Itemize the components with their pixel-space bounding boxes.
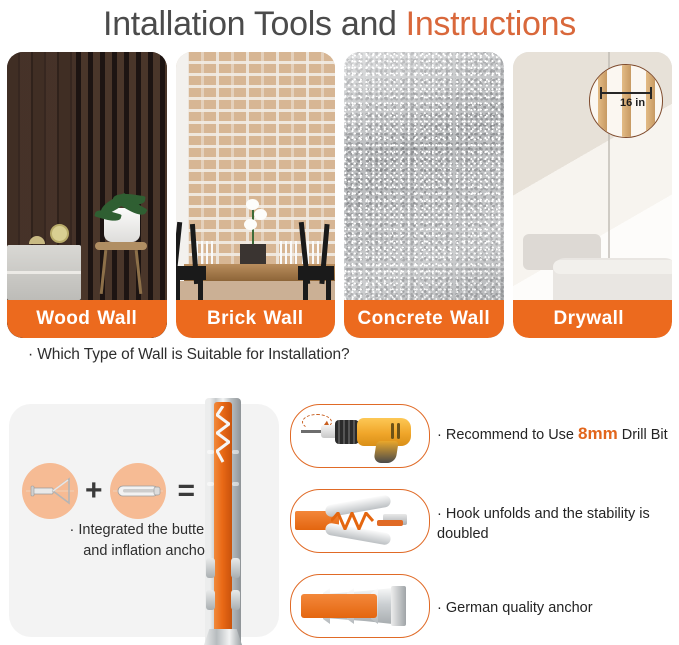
inflation-anchor-icon	[110, 463, 166, 519]
drill-chuck-icon	[335, 420, 359, 444]
drywall-photo: 16 in	[513, 52, 673, 338]
inflation-anchor-circle	[110, 463, 166, 519]
wall-label-word2: Wall	[264, 308, 304, 330]
wall-label-word2: Wall	[450, 308, 490, 330]
hook-spring-icon	[331, 512, 377, 530]
page-title-accent: Instructions	[406, 5, 576, 44]
wall-label-word2: Wall	[97, 308, 137, 330]
feature-text-anchor: · German quality anchor	[437, 598, 667, 618]
wall-card-brick[interactable]: Brick Wall	[176, 52, 336, 338]
stud-spacing-label: 16 in	[620, 97, 645, 109]
butterfly-anchor-icon	[22, 463, 78, 519]
feature-illustration-hook	[290, 489, 430, 553]
drill-bit-icon	[301, 430, 323, 433]
black-chair-right	[298, 222, 334, 300]
anchor-spring-icon	[216, 406, 230, 466]
wall-label-word1: Concrete	[357, 308, 443, 330]
page-title-main: Intallation Tools and	[103, 5, 397, 44]
wall-label-wood: Wood Wall	[7, 300, 167, 338]
wall-label-word1: Brick	[207, 308, 257, 330]
page-title: Intallation Tools and Instructions	[0, 0, 679, 48]
wall-label-word1: Wood	[36, 308, 90, 330]
stool-illustration	[95, 242, 147, 294]
plus-symbol: +	[85, 476, 103, 506]
feature-illustration-anchor	[290, 574, 430, 638]
wood-wall-photo	[7, 52, 167, 338]
wall-label-brick: Brick Wall	[176, 300, 336, 338]
wall-label-drywall: Drywall	[513, 300, 673, 338]
stud-spacing-magnifier: 16 in	[589, 64, 663, 138]
feature-text-drill-after: Drill Bit	[618, 427, 668, 443]
clock-decor	[50, 224, 69, 243]
butterfly-anchor-circle	[22, 463, 78, 519]
wall-label-word1: Drywall	[554, 308, 624, 330]
main-anchor-illustration	[205, 398, 241, 645]
wall-label-concrete: Concrete Wall	[344, 300, 504, 338]
feature-text-drill: · Recommend to Use 8mm Drill Bit	[437, 424, 677, 445]
wall-card-drywall[interactable]: 16 in Drywall	[513, 52, 673, 338]
concrete-wall-photo	[344, 52, 504, 338]
black-chair-left	[176, 222, 208, 300]
equals-symbol: =	[178, 476, 196, 506]
feature-text-drill-highlight: 8mm	[578, 424, 618, 443]
wall-card-concrete[interactable]: Concrete Wall	[344, 52, 504, 338]
orchid-pot	[240, 244, 266, 264]
wall-type-gallery: Wood Wall	[7, 52, 672, 338]
sofa-illustration	[523, 232, 673, 300]
brick-wall-photo	[176, 52, 336, 338]
wall-suitability-caption: · Which Type of Wall is Suitable for Ins…	[28, 346, 350, 364]
feature-text-drill-before: · Recommend to Use	[437, 427, 578, 443]
wall-card-wood[interactable]: Wood Wall	[7, 52, 167, 338]
feature-text-hook: · Hook unfolds and the stability is doub…	[437, 504, 665, 544]
feature-illustration-drill	[290, 404, 430, 468]
